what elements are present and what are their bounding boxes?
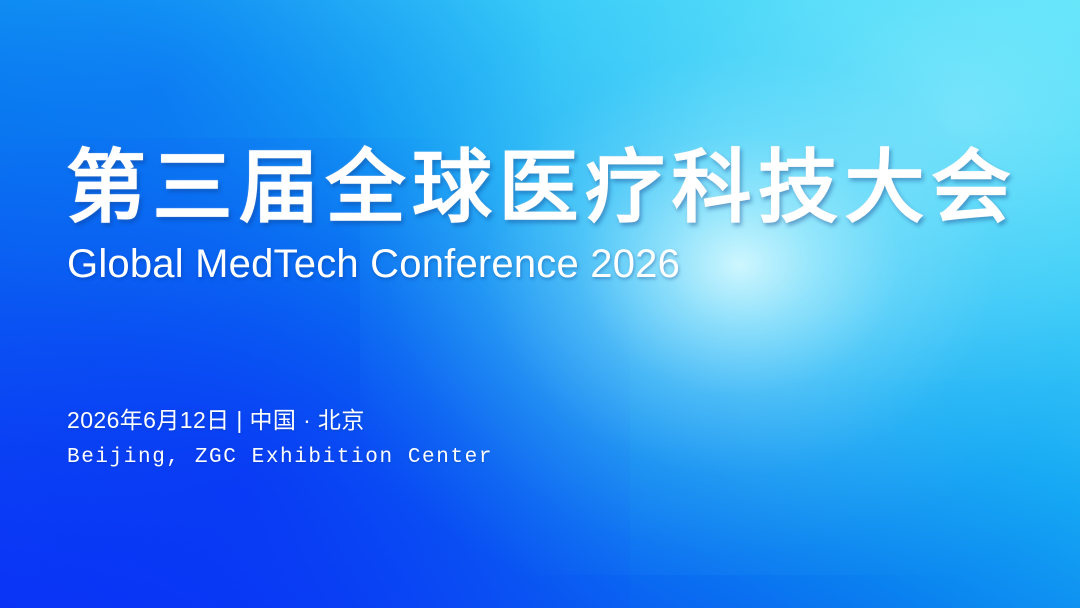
event-details: 2026年6月12日 | 中国 · 北京 Beijing, ZGC Exhibi… <box>67 404 493 472</box>
page-title: 第三届全球医疗科技大会 <box>66 140 1018 236</box>
page-subtitle: Global MedTech Conference 2026 <box>67 239 680 289</box>
event-venue: Beijing, ZGC Exhibition Center <box>67 444 493 472</box>
event-date-location: 2026年6月12日 | 中国 · 北京 <box>67 404 493 436</box>
poster-content: 第三届全球医疗科技大会 Global MedTech Conference 20… <box>0 0 1080 608</box>
conference-poster: 第三届全球医疗科技大会 Global MedTech Conference 20… <box>0 0 1080 608</box>
